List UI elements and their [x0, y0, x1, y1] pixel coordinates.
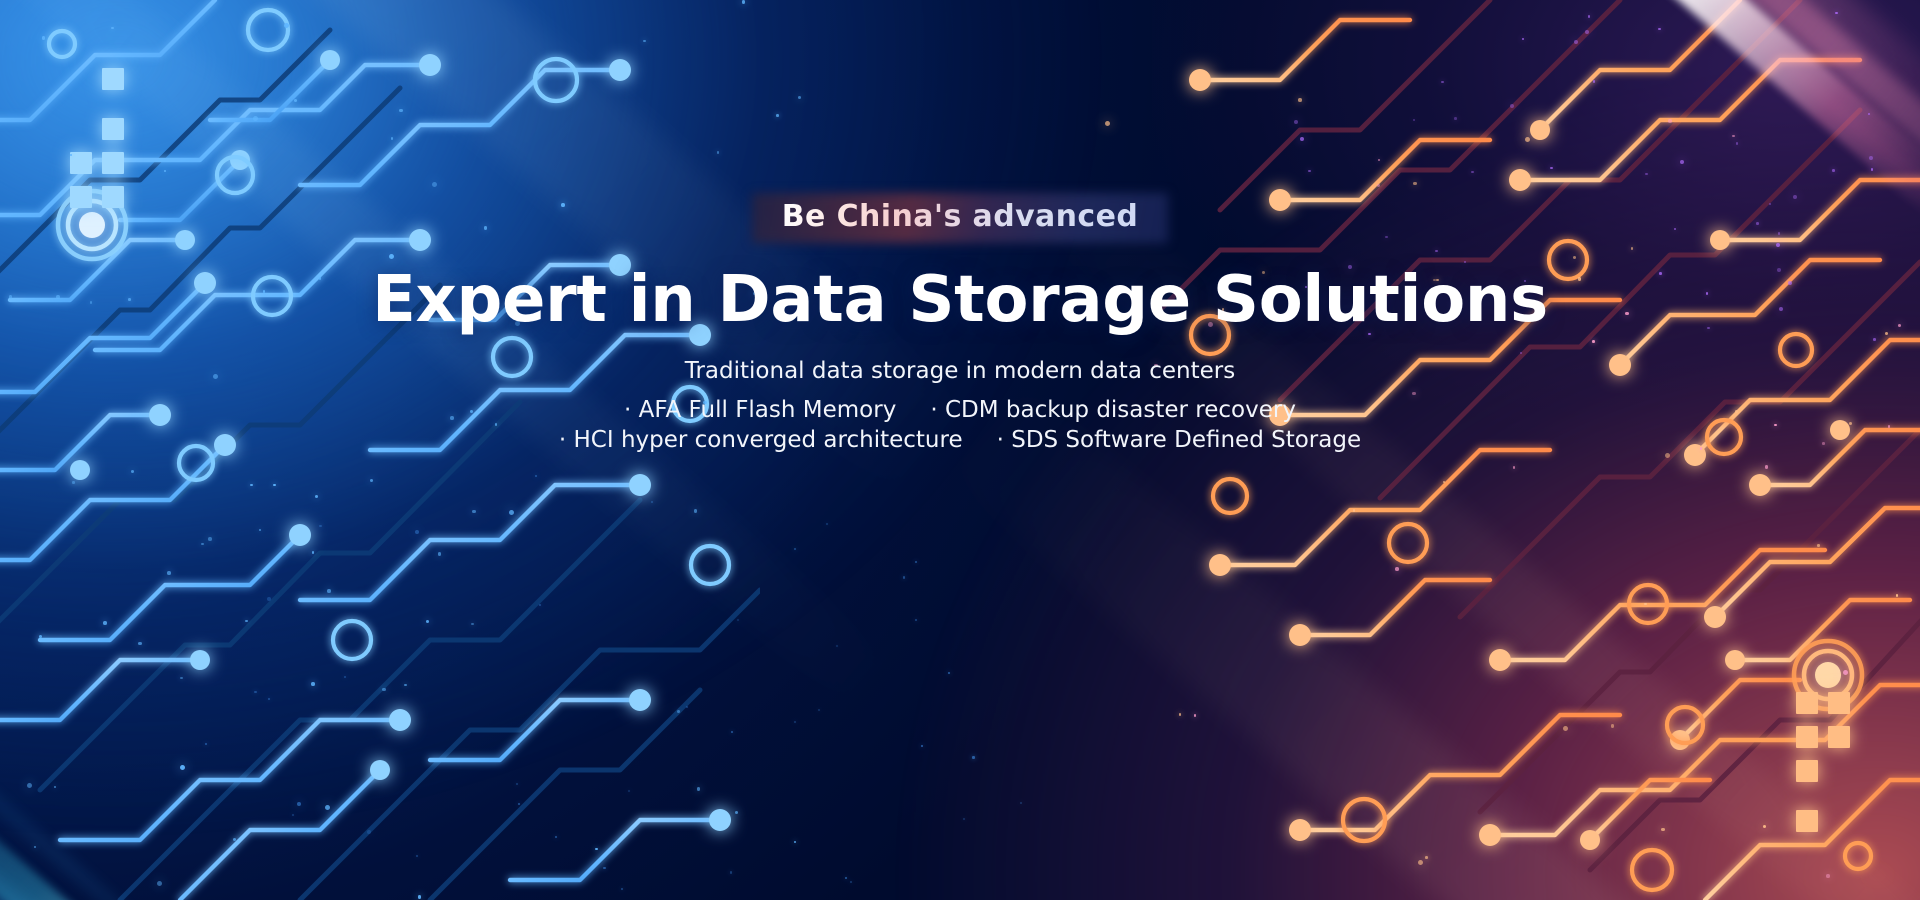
tagline-block: Be China's advanced [752, 193, 1168, 243]
feature-item: · SDS Software Defined Storage [997, 425, 1362, 455]
tagline-text: Be China's advanced [782, 200, 1138, 233]
feature-item: · HCI hyper converged architecture [559, 425, 963, 455]
feature-row: · AFA Full Flash Memory · CDM backup dis… [600, 395, 1320, 425]
square-block-cluster-icon [1796, 692, 1850, 832]
feature-item: · AFA Full Flash Memory [624, 395, 896, 425]
feature-list: · AFA Full Flash Memory · CDM backup dis… [600, 395, 1320, 456]
feature-item: · CDM backup disaster recovery [930, 395, 1296, 425]
page-title: Expert in Data Storage Solutions [0, 267, 1920, 334]
hero-banner: Be China's advanced Expert in Data Stora… [0, 0, 1920, 900]
feature-row: · HCI hyper converged architecture · SDS… [600, 425, 1320, 455]
subtitle-text: Traditional data storage in modern data … [0, 356, 1920, 386]
hero-content: Be China's advanced Expert in Data Stora… [0, 0, 1920, 455]
